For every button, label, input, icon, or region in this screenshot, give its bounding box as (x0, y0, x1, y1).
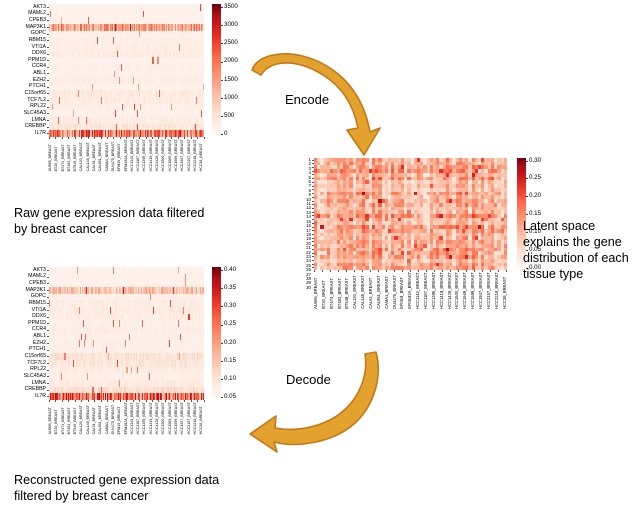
heatmap-cell (203, 71, 204, 78)
y-tick-label: RBM15 (29, 38, 46, 43)
x-tick-label: BT483_BREAST (68, 139, 72, 171)
raw-heatmap-y-axis: AKT3MAML2CPEB3MAP3K1GOPCRBM15VTI1ADDX6PP… (24, 4, 49, 137)
raw-heatmap-x-axis: AU565_BREASTBT20_BREASTBT474_BREASTBT483… (49, 137, 204, 171)
raw-colorbar: 0500100015002000250030003500 (212, 4, 221, 137)
heatmap-cell (203, 4, 204, 11)
x-tick-label: HCC1599_BREAST (175, 139, 179, 171)
heatmap-cell (203, 77, 204, 84)
x-tick-label: HCC38_BREAST (200, 139, 204, 171)
raw-heatmap-panel: AKT3MAML2CPEB3MAP3K1GOPCRBM15VTI1ADDX6PP… (0, 0, 260, 200)
y-tick-label: EZH2 (33, 78, 46, 83)
heatmap-cell (203, 64, 204, 71)
y-tick-label: TCF7L2 (27, 98, 46, 103)
raw-caption: Raw gene expression data filtered by bre… (14, 205, 214, 237)
y-tick-label: PTCH1 (29, 84, 46, 89)
raw-heatmap-grid (49, 4, 204, 137)
y-tick-label: VTI1A (32, 45, 46, 50)
y-tick-label: PPM1D (28, 58, 46, 63)
colorbar-tick-label: 2000 (224, 58, 238, 64)
latent-heatmap-grid (314, 158, 507, 270)
y-tick-label: 30 (306, 286, 311, 290)
y-tick-label: AKT3 (33, 5, 46, 10)
x-tick-label: CAL148_BREAST (87, 139, 91, 171)
x-tick-label: HCC1395_BREAST (143, 139, 147, 171)
heatmap-cell (203, 110, 204, 117)
colorbar-tick-label: 500 (224, 113, 234, 119)
heatmap-cell (203, 130, 204, 137)
heatmap-cell (203, 17, 204, 24)
heatmap-cell (203, 11, 204, 18)
y-tick-label: SLC45A3 (24, 111, 46, 116)
x-tick-label: HCC1187_BREAST (137, 139, 141, 171)
heatmap-cell (203, 90, 204, 97)
x-tick-label: HCC2218_BREAST (194, 139, 198, 171)
raw-heatmap-plot: AKT3MAML2CPEB3MAP3K1GOPCRBM15VTI1ADDX6PP… (49, 4, 204, 137)
heatmap-cell (203, 124, 204, 131)
heatmap-cell (203, 57, 204, 64)
x-tick-label: CAL51_BREAST (93, 139, 97, 171)
x-tick-label: CAMA1_BREAST (106, 139, 110, 171)
x-tick-label: AU565_BREAST (49, 139, 53, 171)
x-tick-label: CAL851_BREAST (99, 139, 103, 171)
y-tick-label: DDX6 (32, 51, 46, 56)
y-tick-label: LMNA (32, 118, 46, 123)
y-tick-label: MAML2 (28, 11, 46, 16)
colorbar-tick-label: 3000 (224, 22, 238, 28)
x-tick-label: BT20_BREAST (55, 139, 59, 171)
y-tick-label: CCR4 (32, 64, 46, 69)
colorbar-tick-label: 2500 (224, 40, 238, 46)
heatmap-cell (203, 97, 204, 104)
x-tick-label: HCC1143_BREAST (131, 139, 135, 171)
y-tick-label: GOPC (31, 31, 46, 36)
x-tick-label: DU4475_BREAST (112, 139, 116, 171)
y-tick-label: MAP3K1 (26, 25, 46, 30)
y-tick-label: ABL1 (33, 71, 46, 76)
y-tick-label: RPL22 (30, 104, 46, 109)
x-tick-label: HCC1937_BREAST (181, 139, 185, 171)
x-tick-label: HCC1419_BREAST (150, 139, 154, 171)
x-tick-label: HCC1500_BREAST (162, 139, 166, 171)
heatmap-cell (203, 37, 204, 44)
x-tick-label: BT549_BREAST (74, 139, 78, 171)
heatmap-cell (203, 31, 204, 38)
colorbar-tick-label: 0 (224, 131, 227, 137)
heatmap-cell (203, 117, 204, 124)
colorbar-tick-label: 3500 (224, 4, 238, 10)
x-tick-label: CAL120_BREAST (80, 139, 84, 171)
y-tick-label: CPEB3 (29, 18, 46, 23)
colorbar-tick-label: 1500 (224, 77, 238, 83)
raw-colorbar-gradient (212, 4, 221, 137)
latent-heatmap-plot: 1234567891011121314151617181920212223242… (314, 158, 507, 270)
y-tick-label: C15orf65 (25, 91, 46, 96)
x-tick-label: HCC1569_BREAST (169, 139, 173, 171)
heatmap-cell (203, 44, 204, 51)
x-tick-label: BT474_BREAST (62, 139, 66, 171)
heatmap-cell (203, 84, 204, 91)
y-tick-label: CREBBP (25, 124, 46, 129)
colorbar-tick-label: 1000 (224, 95, 238, 101)
heatmap-cell (203, 24, 204, 31)
x-tick-label: EFM192A_BREAST (125, 139, 129, 171)
y-tick-label: IL7R (35, 131, 46, 136)
x-tick-label: HCC2157_BREAST (188, 139, 192, 171)
heatmap-cell (203, 104, 204, 111)
heatmap-cell (203, 51, 204, 58)
x-tick-label: EFM19_BREAST (118, 139, 122, 171)
x-tick-label: HCC1428_BREAST (156, 139, 160, 171)
